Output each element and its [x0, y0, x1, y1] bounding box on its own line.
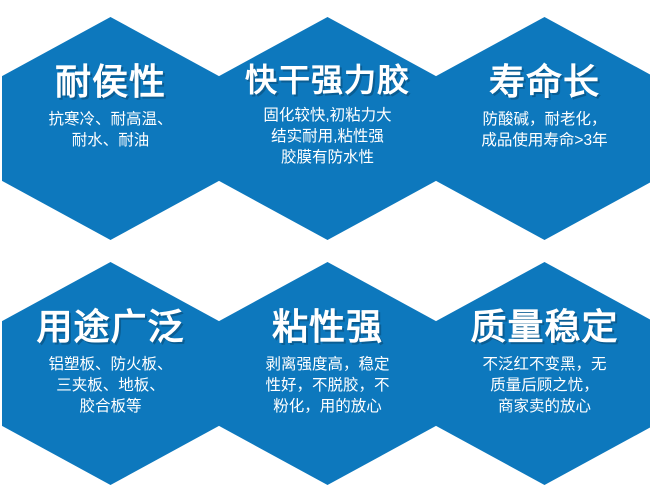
feature-hexagon-4-content: 用途广泛 铝塑板、防火板、 三夹板、地板、 胶合板等 [2, 262, 219, 417]
feature-hexagon-3-content: 寿命长 防酸碱，耐老化， 成品使用寿命>3年 [436, 17, 650, 151]
feature-hexagon-5-title: 粘性强 [272, 306, 383, 348]
feature-hexagon-6-title: 质量稳定 [470, 306, 618, 348]
feature-hexagon-1-subtitle: 抗寒冷、耐高温、 耐水、耐油 [40, 109, 180, 151]
hexagon-feature-grid: 耐侯性 抗寒冷、耐高温、 耐水、耐油 快干强力胶 固化较快,初粘力大 结实耐用,… [0, 0, 650, 503]
feature-hexagon-2-subtitle: 固化较快,初粘力大 结实耐用,粘性强 胶膜有防水性 [255, 105, 399, 168]
feature-hexagon-5-content: 粘性强 剥离强度高，稳定 性好，不脱胶，不 粉化，用的放心 [219, 262, 436, 417]
feature-hexagon-4-subtitle: 铝塑板、防火板、 三夹板、地板、 胶合板等 [40, 354, 180, 417]
feature-hexagon-1: 耐侯性 抗寒冷、耐高温、 耐水、耐油 [2, 17, 219, 240]
feature-hexagon-1-title: 耐侯性 [55, 61, 166, 103]
feature-hexagon-2: 快干强力胶 固化较快,初粘力大 结实耐用,粘性强 胶膜有防水性 [219, 17, 436, 240]
feature-hexagon-4: 用途广泛 铝塑板、防火板、 三夹板、地板、 胶合板等 [2, 262, 219, 485]
feature-hexagon-6-subtitle: 不泛红不变黑，无 质量后顾之忧， 商家卖的放心 [474, 354, 614, 417]
feature-hexagon-5: 粘性强 剥离强度高，稳定 性好，不脱胶，不 粉化，用的放心 [219, 262, 436, 485]
feature-hexagon-6: 质量稳定 不泛红不变黑，无 质量后顾之忧， 商家卖的放心 [436, 262, 650, 485]
feature-hexagon-3-title: 寿命长 [489, 61, 600, 103]
feature-hexagon-2-content: 快干强力胶 固化较快,初粘力大 结实耐用,粘性强 胶膜有防水性 [219, 17, 436, 168]
feature-hexagon-3: 寿命长 防酸碱，耐老化， 成品使用寿命>3年 [436, 17, 650, 240]
feature-hexagon-3-subtitle: 防酸碱，耐老化， 成品使用寿命>3年 [473, 109, 615, 151]
feature-hexagon-5-subtitle: 剥离强度高，稳定 性好，不脱胶，不 粉化，用的放心 [257, 354, 397, 417]
feature-hexagon-2-title: 快干强力胶 [245, 61, 410, 99]
feature-hexagon-1-content: 耐侯性 抗寒冷、耐高温、 耐水、耐油 [2, 17, 219, 151]
feature-hexagon-4-title: 用途广泛 [36, 306, 184, 348]
feature-hexagon-6-content: 质量稳定 不泛红不变黑，无 质量后顾之忧， 商家卖的放心 [436, 262, 650, 417]
